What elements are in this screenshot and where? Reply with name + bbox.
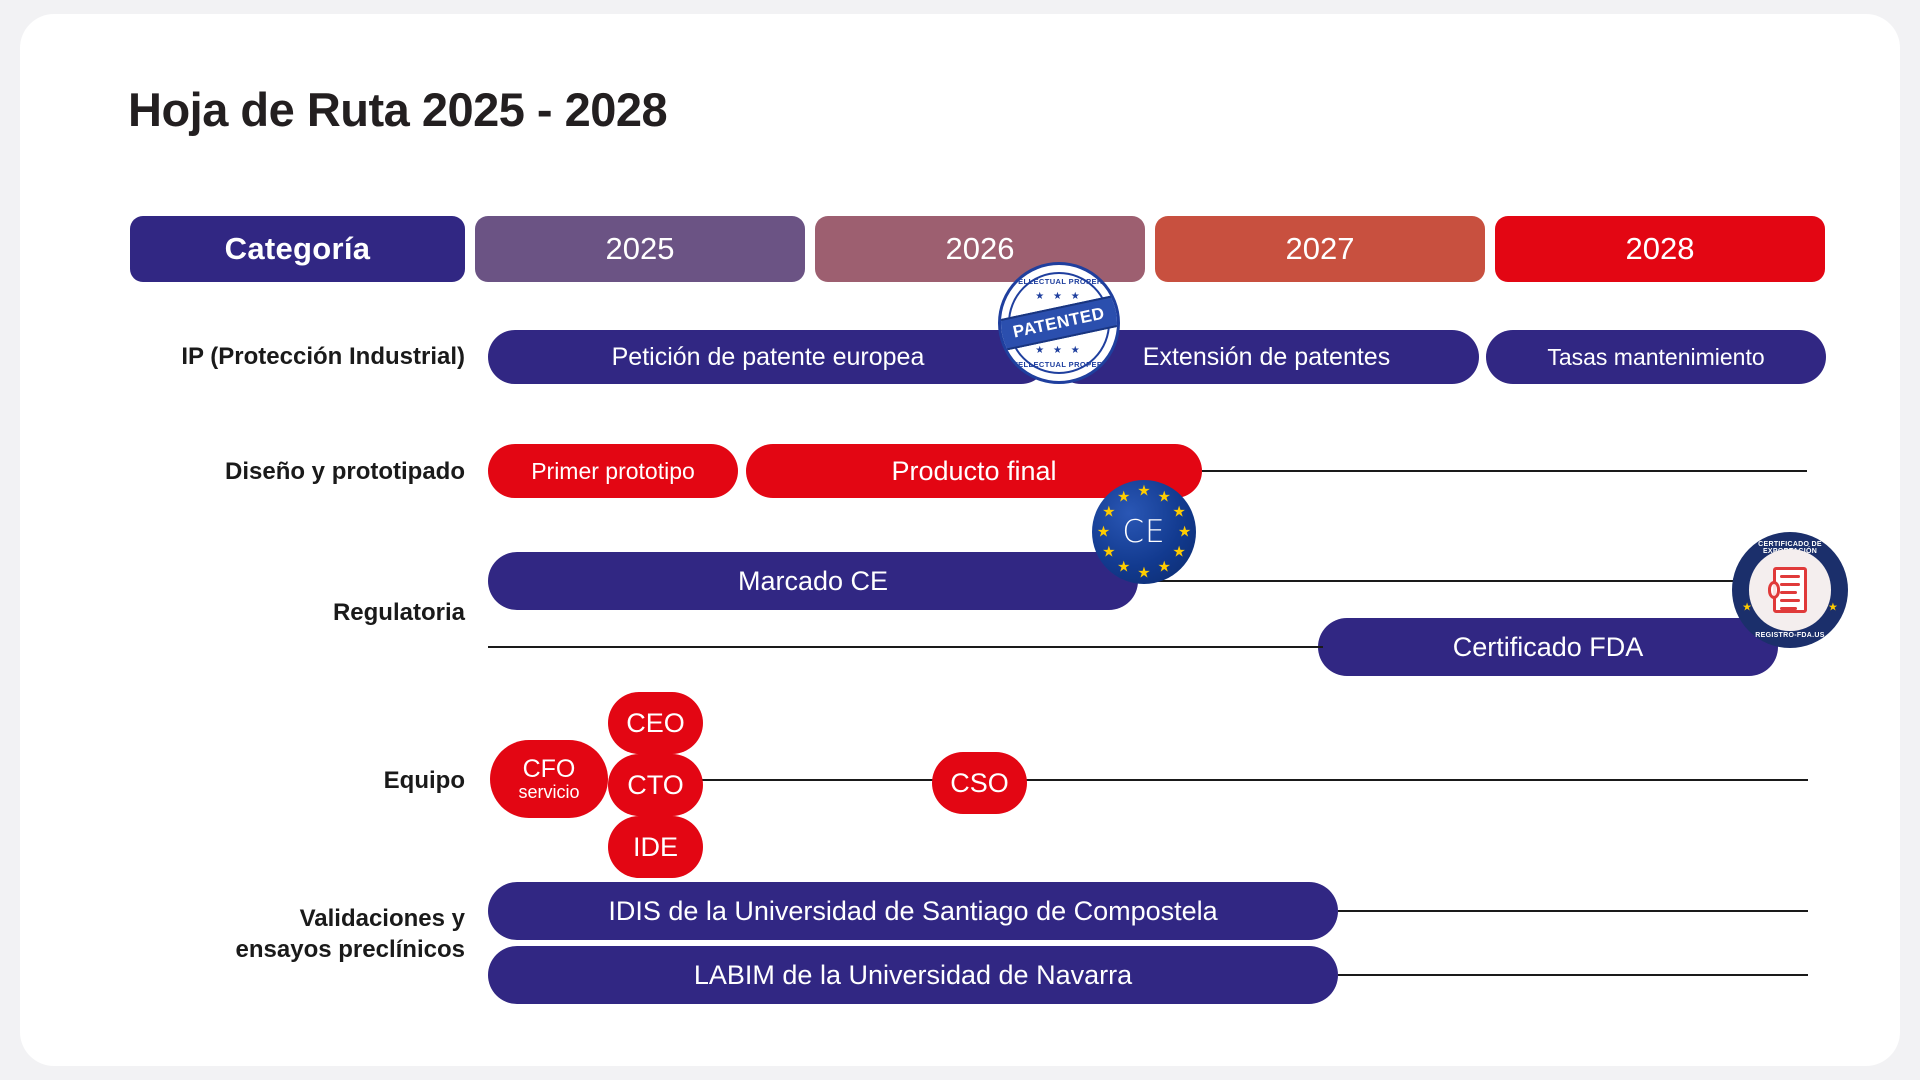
pill-label: IDE [633, 833, 678, 861]
ce-mark-label: CE [1092, 514, 1196, 550]
document-icon [1773, 567, 1807, 612]
header-year-label: 2028 [1626, 231, 1695, 267]
bar-label: Marcado CE [738, 566, 888, 597]
pill-ide[interactable]: IDE [608, 816, 703, 878]
connector-line-marcado-ce [1138, 580, 1808, 582]
stamp-arc-top: INTELLECTUAL PROPERTY [1001, 277, 1117, 286]
header-year-label: 2025 [606, 231, 675, 267]
export-inner-disc [1749, 549, 1830, 630]
header-category-label: Categoría [225, 231, 371, 267]
ce-star: ★ [1117, 489, 1130, 504]
pill-cso[interactable]: CSO [932, 752, 1027, 814]
bar-marcado-ce[interactable]: Marcado CE [488, 552, 1138, 610]
bar-label: Primer prototipo [531, 458, 695, 485]
pill-label: CFO [523, 756, 576, 782]
header-year-label: 2027 [1286, 231, 1355, 267]
connector-line-labim [1338, 974, 1808, 976]
row-label-equipo: Equipo [60, 766, 465, 797]
bar-peticion-patente-europea[interactable]: Petición de patente europea [488, 330, 1048, 384]
bar-label: Producto final [891, 456, 1056, 487]
row-label-validaciones: Validaciones y ensayos preclínicos [60, 904, 465, 965]
bar-label: LABIM de la Universidad de Navarra [694, 960, 1132, 991]
connector-line-fda [488, 646, 1323, 648]
bar-tasas-mantenimiento[interactable]: Tasas mantenimiento [1486, 330, 1826, 384]
patented-stamp-badge: INTELLECTUAL PROPERTY ★ ★ ★ PATENTED ★ ★… [998, 262, 1120, 384]
ce-mark-badge: ★ ★ ★ ★ ★ ★ ★ ★ ★ ★ ★ ★ CE [1092, 480, 1196, 584]
ce-star: ★ [1158, 560, 1171, 575]
bar-label: Tasas mantenimiento [1547, 344, 1764, 371]
row-label-ip: IP (Protección Industrial) [60, 342, 465, 373]
export-certificate-badge: CERTIFICADO DE EXPORTACIÓN REGISTRO-FDA.… [1732, 532, 1848, 648]
bar-primer-prototipo[interactable]: Primer prototipo [488, 444, 738, 498]
bar-label: Petición de patente europea [612, 343, 925, 372]
stamp-arc-bottom: INTELLECTUAL PROPERTY [1001, 360, 1117, 369]
magnifier-icon [1768, 581, 1781, 599]
bar-label: Certificado FDA [1453, 632, 1644, 663]
connector-line-equipo-left [680, 779, 940, 781]
header-year-2028: 2028 [1495, 216, 1825, 282]
ce-star: ★ [1158, 489, 1171, 504]
export-arc-bottom: REGISTRO-FDA.US [1732, 632, 1848, 639]
pill-ceo[interactable]: CEO [608, 692, 703, 754]
export-star: ★ [1828, 601, 1838, 614]
ce-star: ★ [1117, 560, 1130, 575]
pill-cto[interactable]: CTO [608, 754, 703, 816]
pill-label: CTO [627, 771, 684, 799]
row-label-diseno-prototipado: Diseño y prototipado [60, 457, 465, 488]
bar-label: Extensión de patentes [1143, 343, 1390, 372]
page-title: Hoja de Ruta 2025 - 2028 [128, 82, 667, 137]
pill-cfo-servicio[interactable]: CFO servicio [490, 740, 608, 818]
bar-idis-santiago[interactable]: IDIS de la Universidad de Santiago de Co… [488, 882, 1338, 940]
row-label-regulatoria: Regulatoria [60, 598, 465, 629]
header-category-cell: Categoría [130, 216, 465, 282]
connector-line-idis [1338, 910, 1808, 912]
header-year-2027: 2027 [1155, 216, 1485, 282]
header-year-2025: 2025 [475, 216, 805, 282]
connector-line-diseno [1202, 470, 1807, 472]
bar-labim-navarra[interactable]: LABIM de la Universidad de Navarra [488, 946, 1338, 1004]
pill-label: CSO [950, 769, 1009, 797]
ce-star: ★ [1137, 565, 1150, 580]
bar-label: IDIS de la Universidad de Santiago de Co… [608, 896, 1217, 927]
pill-label: CEO [626, 709, 685, 737]
bar-certificado-fda[interactable]: Certificado FDA [1318, 618, 1778, 676]
roadmap-card: Hoja de Ruta 2025 - 2028 Categoría 2025 … [20, 14, 1900, 1066]
stamp-stars-bottom: ★ ★ ★ [1001, 345, 1117, 356]
connector-line-equipo-right [1020, 779, 1808, 781]
ce-star: ★ [1137, 484, 1150, 499]
pill-sublabel: servicio [518, 783, 579, 802]
